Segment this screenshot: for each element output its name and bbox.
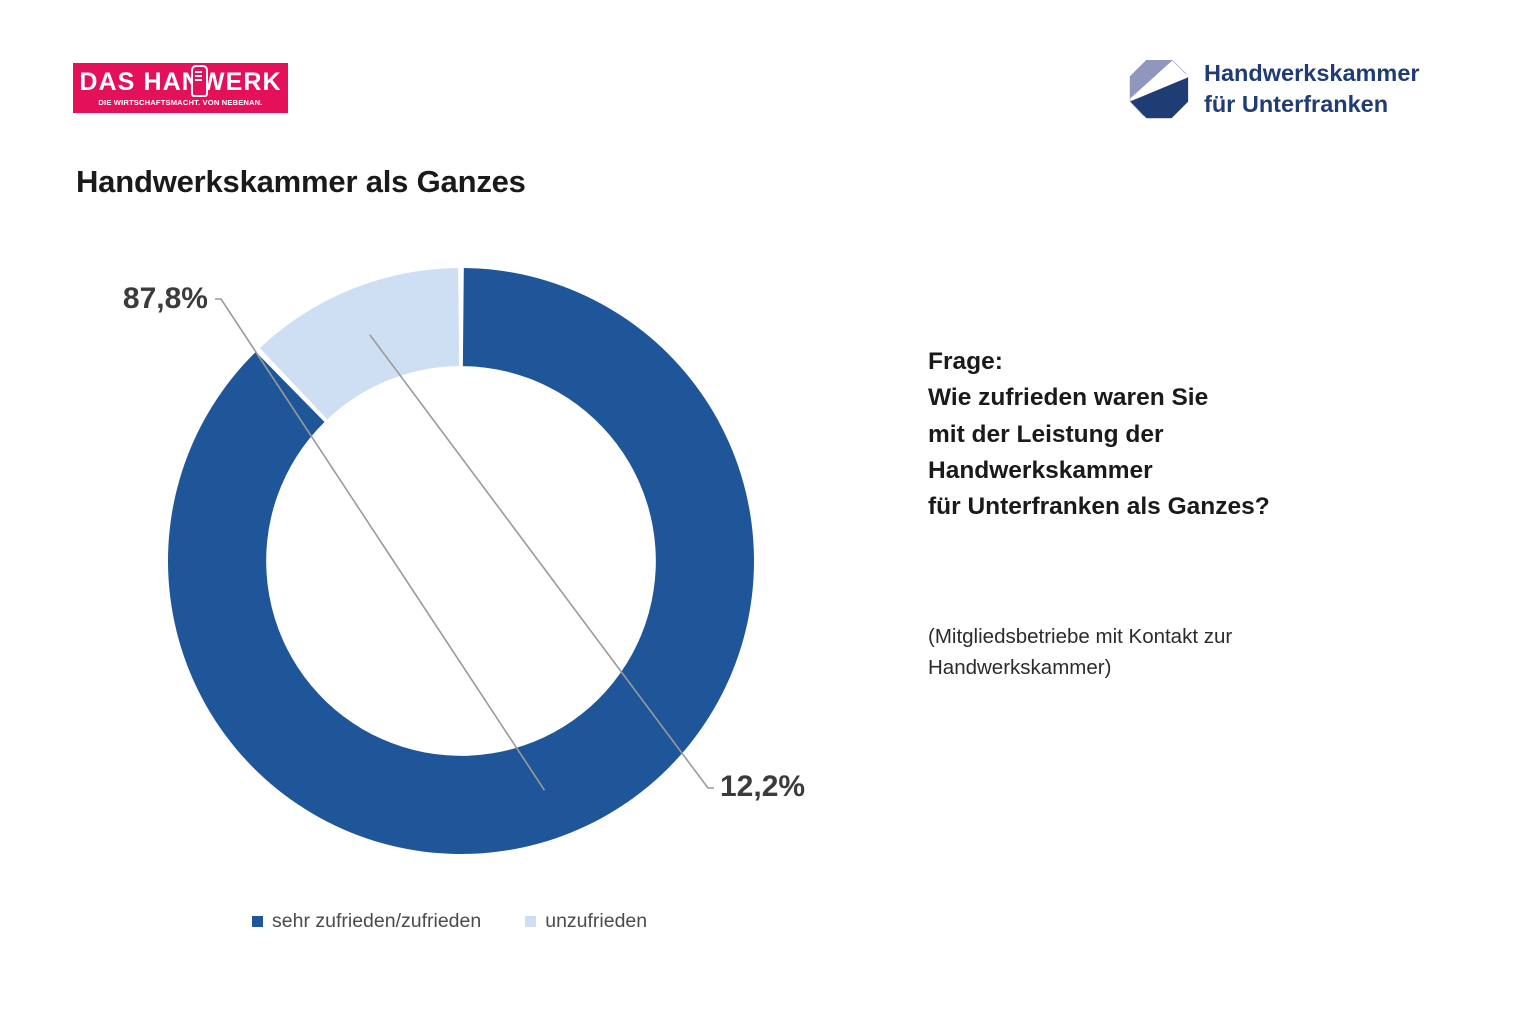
question-line: mit der Leistung der <box>928 417 1398 453</box>
das-handwerk-tagline: DIE WIRTSCHAFTSMACHT. VON NEBENAN. <box>98 98 262 107</box>
sample-note-block: (Mitgliedsbetriebe mit Kontakt zur Handw… <box>928 622 1358 684</box>
donut-chart: 87,8% 12,2% <box>120 240 820 880</box>
handwerkskammer-logo-text: Handwerkskammer für Unterfranken <box>1204 58 1420 119</box>
das-handwerk-wordmark: DAS HANWERK <box>79 70 281 95</box>
pie-slice-sehr-zufrieden[interactable] <box>168 268 754 854</box>
legend-label: unzufrieden <box>545 910 647 933</box>
slide-canvas: DAS HANWERK DIE WIRTSCHAFTSMACHT. VON NE… <box>0 0 1520 1013</box>
octagon-swoosh-icon <box>1128 58 1190 120</box>
sample-note-line: (Mitgliedsbetriebe mit Kontakt zur <box>928 622 1358 653</box>
das-handwerk-logo: DAS HANWERK DIE WIRTSCHAFTSMACHT. VON NE… <box>73 63 288 113</box>
hwk-logo-line-1: Handwerkskammer <box>1204 58 1420 89</box>
thumbs-up-icon <box>191 65 208 97</box>
legend-item-unzufrieden[interactable]: unzufrieden <box>525 910 647 933</box>
handwerkskammer-unterfranken-logo: Handwerkskammer für Unterfranken <box>1128 58 1420 120</box>
data-label-12-2: 12,2% <box>720 770 805 803</box>
question-line: für Unterfranken als Ganzes? <box>928 489 1398 525</box>
hwk-logo-line-2: für Unterfranken <box>1204 89 1420 120</box>
question-line: Handwerkskammer <box>928 453 1398 489</box>
das-handwerk-word-right: WERK <box>201 68 282 96</box>
question-line: Wie zufrieden waren Sie <box>928 380 1398 416</box>
data-label-87-8: 87,8% <box>123 282 208 315</box>
das-handwerk-word-left: DAS HAN <box>79 68 201 96</box>
legend-item-sehr-zufrieden[interactable]: sehr zufrieden/zufrieden <box>252 910 481 933</box>
page-title: Handwerkskammer als Ganzes <box>76 164 526 200</box>
question-text-block: Frage: Wie zufrieden waren Sie mit der L… <box>928 344 1398 525</box>
chart-legend: sehr zufrieden/zufrieden unzufrieden <box>252 910 647 933</box>
sample-note-line: Handwerkskammer) <box>928 653 1358 684</box>
legend-swatch-icon <box>252 916 263 927</box>
legend-swatch-icon <box>525 916 536 927</box>
question-line: Frage: <box>928 344 1398 380</box>
legend-label: sehr zufrieden/zufrieden <box>272 910 481 933</box>
donut-chart-svg: 87,8% 12,2% <box>120 240 820 880</box>
